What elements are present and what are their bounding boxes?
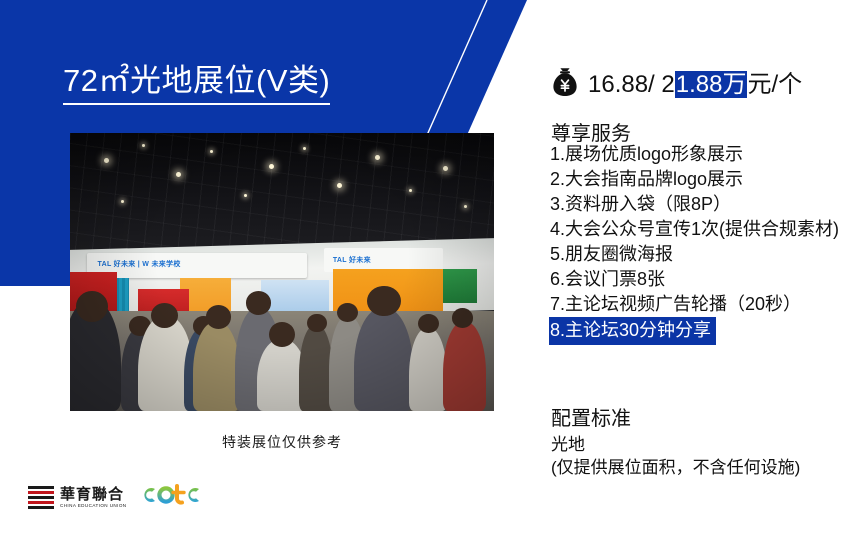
service-item-4[interactable]: 4.大会公众号宣传1次(提供合规素材) bbox=[550, 217, 867, 242]
exhibition-booth-photo: TAL 好未来 | W 未来学校 TAL 好未来 bbox=[70, 133, 494, 411]
config-line-1: 光地 bbox=[551, 430, 585, 455]
price-prefix: 16.88/ 2 bbox=[588, 71, 675, 98]
services-list: 1.展场优质logo形象展示 2.大会指南品牌logo展示 3.资料册入袋（限8… bbox=[550, 142, 867, 345]
service-item-6[interactable]: 6.会议门票8张 bbox=[550, 267, 867, 292]
config-line-2: (仅提供展位面积，不含任何设施) bbox=[551, 453, 800, 478]
service-item-3[interactable]: 3.资料册入袋（限8P） bbox=[550, 192, 867, 217]
logo-text-block: 華育聯合 CHINA EDUCATION UNION bbox=[60, 487, 127, 509]
details-panel: 16.88/ 21.88万元/个 尊享服务 1.展场优质logo形象展示 2.大… bbox=[540, 0, 867, 533]
cetc-logo bbox=[141, 483, 203, 512]
logo-english-name: CHINA EDUCATION UNION bbox=[60, 504, 127, 509]
china-education-union-logo: 華育聯合 CHINA EDUCATION UNION bbox=[28, 486, 127, 509]
footer-logos: 華育聯合 CHINA EDUCATION UNION bbox=[28, 483, 203, 512]
service-item-8-selected[interactable]: 8.主论坛30分钟分享 bbox=[549, 317, 716, 345]
service-item-5[interactable]: 5.朋友圈微海报 bbox=[550, 242, 867, 267]
logo-bars-icon bbox=[28, 486, 54, 509]
service-item-7[interactable]: 7.主论坛视频广告轮播（20秒） bbox=[550, 292, 867, 317]
photo-vignette bbox=[70, 133, 494, 411]
price-text: 16.88/ 21.88万元/个 bbox=[588, 64, 802, 99]
photo-content: TAL 好未来 | W 未来学校 TAL 好未来 bbox=[70, 133, 494, 411]
price-highlighted-value: 1.88万 bbox=[675, 71, 748, 98]
money-bag-icon bbox=[551, 67, 579, 97]
service-item-1[interactable]: 1.展场优质logo形象展示 bbox=[550, 142, 867, 167]
service-item-2[interactable]: 2.大会指南品牌logo展示 bbox=[550, 167, 867, 192]
logo-chinese-name: 華育聯合 bbox=[60, 487, 127, 502]
price-row: 16.88/ 21.88万元/个 bbox=[551, 64, 802, 99]
config-heading: 配置标准 bbox=[551, 402, 631, 431]
price-suffix: 元/个 bbox=[747, 71, 802, 98]
photo-caption: 特装展位仅供参考 bbox=[70, 432, 494, 452]
page-title: 72㎡光地展位(V类) bbox=[63, 60, 330, 105]
